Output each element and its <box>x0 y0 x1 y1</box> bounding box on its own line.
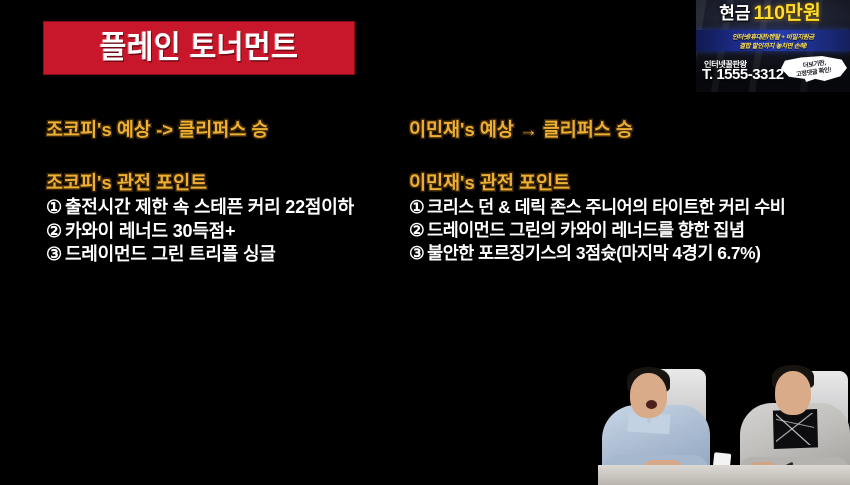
right-prediction-line: 이민재's 예상 → 클리퍼스 승 <box>409 118 834 141</box>
list-item: ③드레이먼드 그린 트리플 싱글 <box>46 243 396 267</box>
list-item-number: ① <box>409 197 424 217</box>
list-item-number: ③ <box>46 244 62 264</box>
list-item-text: 드레이먼드 그린의 카와이 레너드를 향한 집념 <box>427 220 744 240</box>
list-item: ②드레이먼드 그린의 카와이 레너드를 향한 집념 <box>409 219 834 242</box>
commentator-left <box>602 359 710 477</box>
left-points-header: 조코피's 관전 포인트 <box>46 171 396 194</box>
ad-phone-number[interactable]: T. 1555-3312 <box>702 66 784 83</box>
list-item-text: 드레이먼드 그린 트리플 싱글 <box>65 244 276 264</box>
right-points-list: ①크리스 던 & 데릭 존스 주니어의 타이트한 커리 수비 ②드레이먼드 그린… <box>409 196 834 264</box>
commentator-right-shirt-graphic <box>772 409 818 449</box>
video-feed[interactable] <box>598 355 850 485</box>
right-prediction-column: 이민재's 예상 → 클리퍼스 승 이민재's 관전 포인트 ①크리스 던 & … <box>409 118 834 265</box>
list-item-text: 카와이 레너드 30득점+ <box>65 221 235 241</box>
ad-subline-2: 결합 할인까지 놓치면 손해! <box>700 41 846 50</box>
list-item: ③불안한 포르징기스의 3점슛(마지막 4경기 6.7%) <box>409 242 834 265</box>
commentator-right-head <box>775 371 811 415</box>
ad-cash-label: 현금 <box>719 4 750 23</box>
ad-subline-1: 인터넷/휴대폰/렌탈 + 비밀지원금 <box>700 32 846 41</box>
desk-surface <box>598 465 850 485</box>
list-item: ①출전시간 제한 속 스테픈 커리 22점이하 <box>46 196 396 220</box>
advertisement-banner[interactable]: 현금110만원 인터넷/휴대폰/렌탈 + 비밀지원금 결합 할인까지 놓치면 손… <box>695 0 850 92</box>
left-prediction-line: 조코피's 예상 -> 클리퍼스 승 <box>46 118 396 141</box>
title-banner: 플레인 토너먼트 <box>44 22 354 74</box>
list-item-text: 출전시간 제한 속 스테픈 커리 22점이하 <box>65 197 354 217</box>
title-banner-text: 플레인 토너먼트 <box>100 32 299 63</box>
ad-bubble-line-2: 고정댓글 확인! <box>796 67 832 80</box>
commentator-right <box>740 361 850 477</box>
list-item-number: ② <box>46 221 62 241</box>
broadcast-overlay-stage: 플레인 토너먼트 조코피's 예상 -> 클리퍼스 승 조코피's 관전 포인트… <box>0 0 850 485</box>
list-item-number: ② <box>409 220 424 240</box>
list-item: ②카와이 레너드 30득점+ <box>46 220 396 244</box>
ad-amount: 110만원 <box>753 2 820 24</box>
list-item-number: ③ <box>409 243 424 263</box>
list-item: ①크리스 던 & 데릭 존스 주니어의 타이트한 커리 수비 <box>409 196 834 219</box>
right-points-header: 이민재's 관전 포인트 <box>409 171 834 194</box>
list-item-text: 불안한 포르징기스의 3점슛(마지막 4경기 6.7%) <box>427 243 760 263</box>
list-item-text: 크리스 던 & 데릭 존스 주니어의 타이트한 커리 수비 <box>427 197 785 217</box>
commentator-left-head <box>630 373 667 418</box>
ad-headline: 현금110만원 <box>696 4 844 24</box>
list-item-number: ① <box>46 197 62 217</box>
left-prediction-column: 조코피's 예상 -> 클리퍼스 승 조코피's 관전 포인트 ①출전시간 제한… <box>46 118 396 267</box>
commentator-left-mouth <box>646 400 657 409</box>
left-points-list: ①출전시간 제한 속 스테픈 커리 22점이하 ②카와이 레너드 30득점+ ③… <box>46 196 396 267</box>
